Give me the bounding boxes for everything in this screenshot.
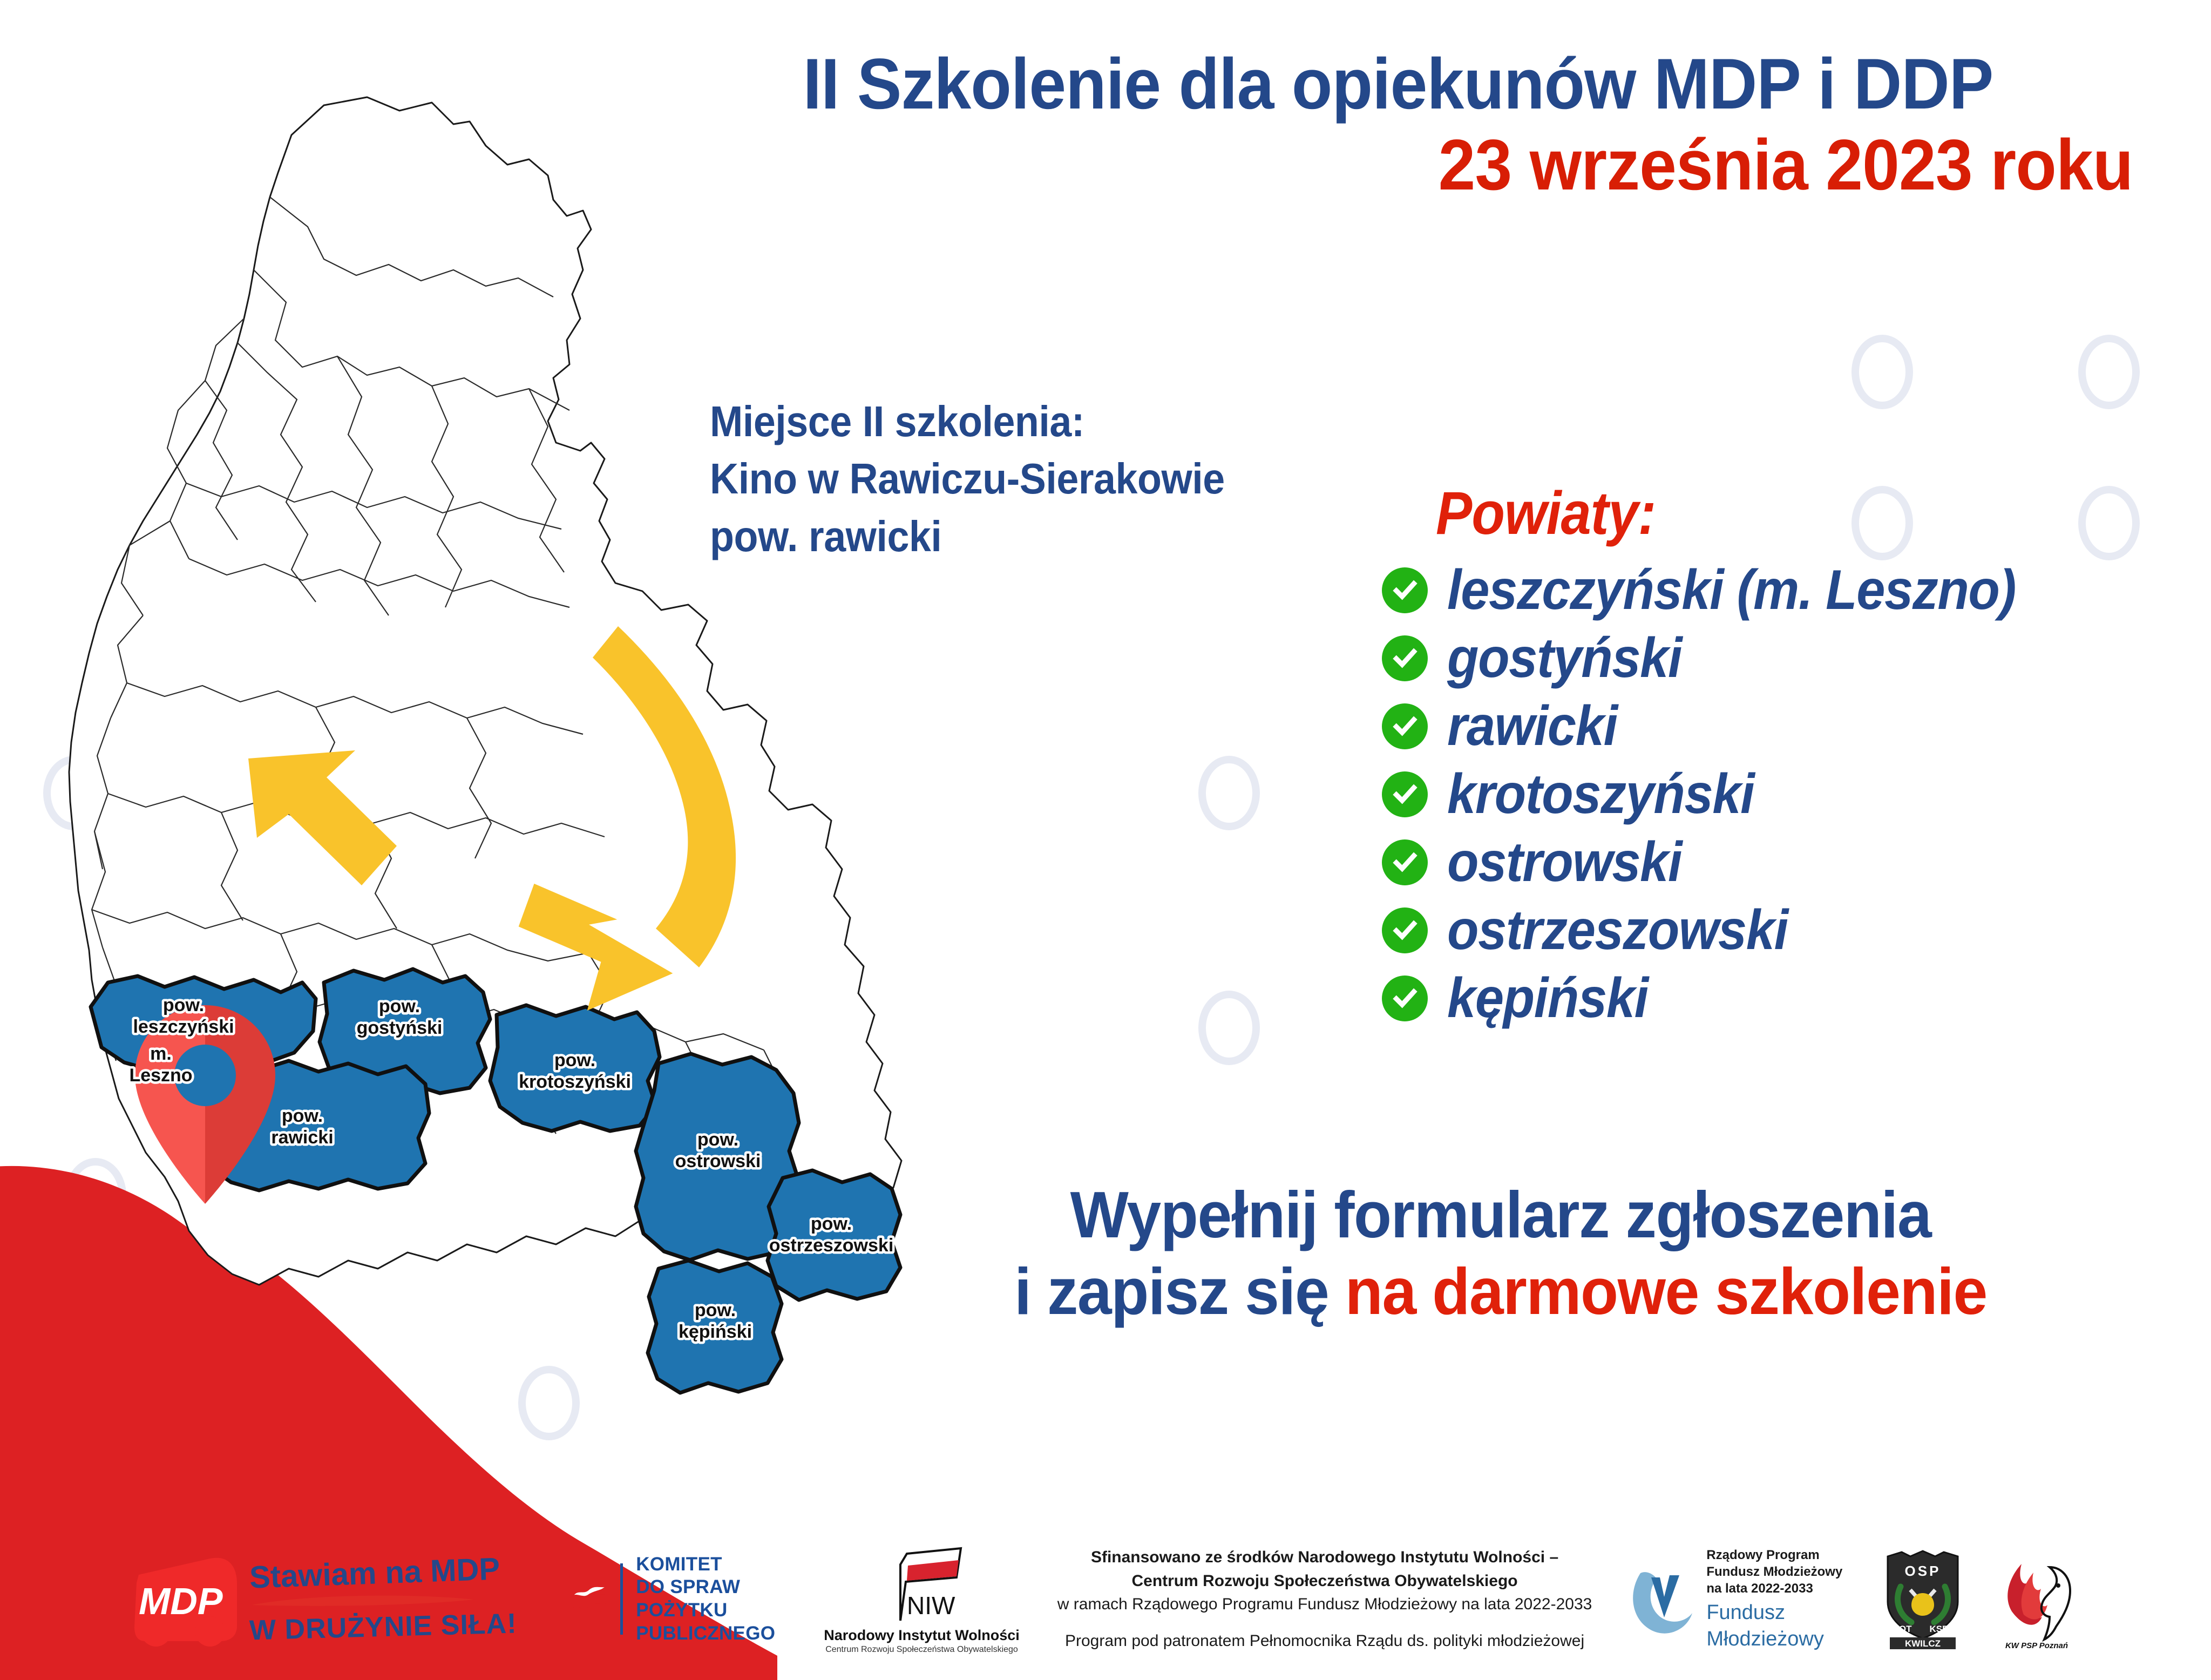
powiat-label: krotoszyński [1447,766,1754,822]
polish-flag-icon [571,1584,608,1614]
mdp-slogan: Stawiam na MDP W DRUŻYNIE SIŁA! [249,1557,517,1641]
fundusz-b2: Młodzieżowy [1706,1628,1842,1651]
page-title-line2: 23 września 2023 roku [757,127,2143,204]
check-icon [1382,976,1428,1021]
osp-shield-icon: OSP JOT KSRG KWILCZ [1877,1548,1969,1650]
check-icon [1382,839,1428,885]
map-label-leszczynski: leszczyński [133,1017,234,1037]
map-label-kepinski: pow. [695,1300,736,1320]
map-label-gostynski: gostyński [357,1018,443,1038]
powiat-label: rawicki [1447,698,1617,754]
fundusz-s2: Fundusz Młodzieżowy [1706,1564,1842,1581]
map-label-kepinski: kępiński [679,1322,752,1342]
map-label-ostrowski: ostrowski [675,1151,761,1171]
page-title-line1: II Szkolenie dla opiekunów MDP i DDP [706,46,2091,123]
map-label-leszczynski: pow. [163,995,204,1015]
list-item: leszczyński (m. Leszno) [1382,558,2065,622]
cta-line-2-red: na darmowe szkolenie [1345,1255,1987,1328]
list-item: ostrzeszowski [1382,898,2065,963]
check-icon [1382,567,1428,613]
list-item: rawicki [1382,694,2065,758]
niw-flag-icon: NIW [874,1544,969,1625]
fundusz-text: Rządowy Program Fundusz Młodzieżowy na l… [1706,1547,1842,1650]
logo-komitet-pozytku-publicznego: KOMITET DO SPRAW POŻYTKU PUBLICZNEGO [571,1553,775,1645]
mdp-swoosh-icon [249,1593,476,1607]
logo-fundusz-mlodziezowy: Rządowy Program Fundusz Młodzieżowy na l… [1630,1547,1842,1650]
map-label-leszczynski: m. [150,1044,172,1064]
fundusz-b1: Fundusz [1706,1601,1842,1624]
divider [620,1563,623,1635]
cta-line-2: i zapisz się na darmowe szkolenie [871,1254,2129,1330]
komitet-l3: POŻYTKU [636,1599,775,1622]
powiat-label: leszczyński (m. Leszno) [1447,562,2016,618]
komitet-l1: KOMITET [636,1553,775,1576]
check-icon [1382,635,1428,681]
map-label-leszczynski: Leszno [129,1065,192,1086]
ring-decor [1851,335,1913,409]
map-label-ostrzeszowski: pow. [811,1214,852,1234]
powiaty-list: Powiaty: leszczyński (m. Leszno) gostyńs… [1382,483,2065,1034]
niw-line-1: Narodowy Instytut Wolności [824,1627,1020,1644]
powiat-label: gostyński [1447,630,1681,686]
map-label-ostrowski: pow. [697,1129,738,1150]
logo-osp-kwilcz: OSP JOT KSRG KWILCZ [1877,1548,1969,1650]
cta-block: Wypełnij formularz zgłoszenia i zapisz s… [871,1177,2129,1330]
list-item: ostrowski [1382,830,2065,895]
mdp-truck-icon: MDP [129,1545,245,1653]
svg-text:NIW: NIW [907,1591,955,1620]
funding-statement: Sfinansowano ze środków Narodowego Insty… [1057,1546,1592,1652]
list-item: kępiński [1382,966,2065,1031]
map-label-krotoszynski: pow. [554,1050,595,1071]
ring-decor [2078,335,2140,409]
svg-text:KW PSP Poznań: KW PSP Poznań [2005,1641,2068,1650]
svg-text:JOT: JOT [1894,1624,1912,1634]
svg-text:MDP: MDP [139,1580,223,1622]
svg-text:KSRG: KSRG [1930,1624,1956,1634]
venue-line-3: pow. rawicki [710,508,1225,565]
cta-line-1: Wypełnij formularz zgłoszenia [871,1177,2129,1254]
footer-logo-strip: MDP Stawiam na MDP W DRUŻYNIE SIŁA! K [0,1518,2211,1680]
map-label-gostynski: pow. [379,996,420,1017]
fundusz-v-icon [1630,1561,1699,1637]
check-icon [1382,907,1428,953]
list-item: krotoszyński [1382,762,2065,827]
svg-text:KWILCZ: KWILCZ [1905,1638,1941,1649]
map-label-krotoszynski: krotoszyński [519,1072,631,1092]
komitet-text: KOMITET DO SPRAW POŻYTKU PUBLICZNEGO [636,1553,775,1645]
mdp-slogan-line2: W DRUŻYNIE SIŁA! [249,1609,517,1644]
logo-niw: NIW Narodowy Instytut Wolności Centrum R… [824,1544,1020,1655]
powiat-label: ostrzeszowski [1447,902,1788,958]
list-item: gostyński [1382,626,2065,690]
powiat-label: kępiński [1447,970,1648,1026]
ring-decor [1198,756,1260,830]
wielkopolska-map: pow. leszczyński m. Leszno pow. gostyńsk… [22,65,966,1425]
niw-line-2: Centrum Rozwoju Społeczeństwa Obywatelsk… [824,1645,1020,1655]
venue-line-2: Kino w Rawiczu-Sierakowie [710,450,1225,507]
komitet-l4: PUBLICZNEGO [636,1622,775,1645]
map-label-rawicki: pow. [282,1106,323,1126]
cta-line-2-blue: i zapisz się [1014,1255,1345,1328]
venue-line-1: Miejsce II szkolenia: [710,393,1225,450]
logo-stawiam-na-mdp: MDP Stawiam na MDP W DRUŻYNIE SIŁA! [129,1545,517,1653]
funding-l1: Sfinansowano ze środków Narodowego Insty… [1057,1546,1592,1569]
spacer [1057,1616,1592,1629]
funding-l4: Program pod patronatem Pełnomocnika Rząd… [1057,1629,1592,1653]
map-label-rawicki: rawicki [271,1127,333,1148]
komitet-l2: DO SPRAW [636,1576,775,1599]
venue-block: Miejsce II szkolenia: Kino w Rawiczu-Sie… [710,393,1225,565]
fundusz-s3: na lata 2022-2033 [1706,1581,1842,1597]
check-icon [1382,771,1428,817]
ring-decor [2078,486,2140,560]
logo-kw-psp-poznan: KW PSP Poznań [1990,1548,2082,1650]
fundusz-s1: Rządowy Program [1706,1547,1842,1564]
funding-l3: w ramach Rządowego Programu Fundusz Młod… [1057,1593,1592,1616]
svg-text:OSP: OSP [1905,1563,1941,1579]
mdp-slogan-line1: Stawiam na MDP [249,1553,517,1593]
check-icon [1382,703,1428,749]
poster-canvas: pow. leszczyński m. Leszno pow. gostyńsk… [0,0,2211,1680]
psp-horse-flame-icon: KW PSP Poznań [1990,1548,2082,1650]
powiaty-heading: Powiaty: [1436,483,2002,544]
ring-decor [1198,991,1260,1065]
funding-l2: Centrum Rozwoju Społeczeństwa Obywatelsk… [1057,1569,1592,1593]
powiat-label: ostrowski [1447,834,1681,890]
